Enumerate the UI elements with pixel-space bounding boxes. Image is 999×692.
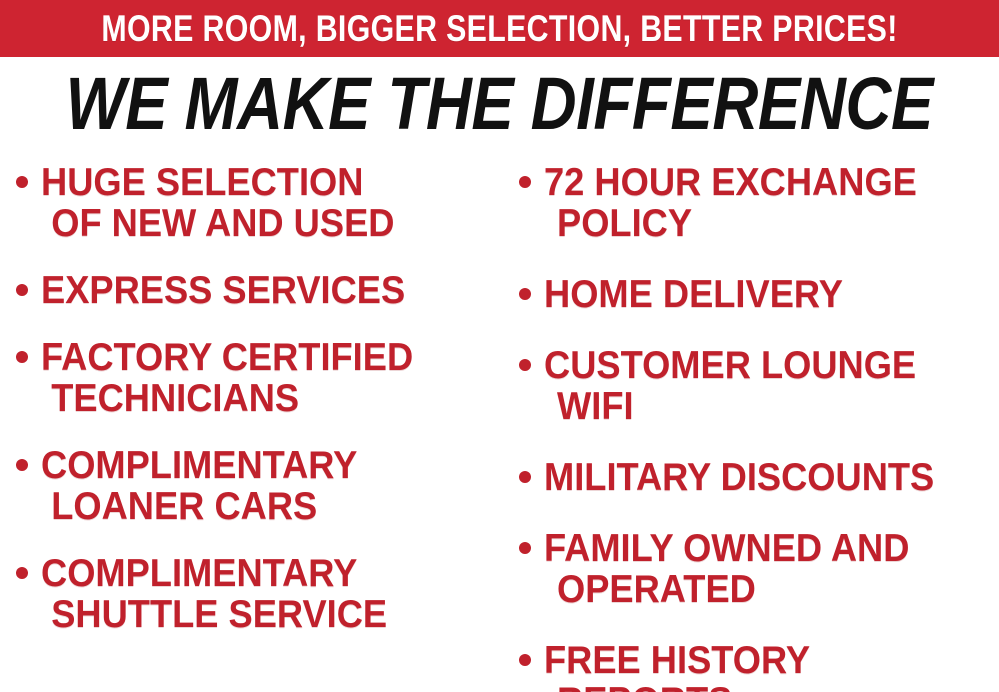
- features-columns: HUGE SELECTION OF NEW AND USED EXPRESS S…: [0, 150, 999, 692]
- bullet-dot-icon: [519, 288, 531, 300]
- bullet-dot-icon: [16, 351, 28, 363]
- headline-container: WE MAKE THE DIFFERENCE: [0, 60, 999, 148]
- list-item-label: COMPLIMENTARY LOANER CARS: [41, 445, 357, 527]
- list-item-line2: TECHNICIANS: [41, 378, 413, 419]
- list-item-label: CUSTOMER LOUNGE WIFI: [544, 345, 916, 427]
- list-item-label: MILITARY DISCOUNTS: [544, 457, 934, 498]
- list-item-label: FREE HISTORY REPORTS: [544, 640, 810, 692]
- list-item-line2: LOANER CARS: [41, 486, 357, 527]
- bullet-dot-icon: [519, 654, 531, 666]
- list-item-line1: HUGE SELECTION: [41, 161, 363, 204]
- list-item-label: HUGE SELECTION OF NEW AND USED: [41, 162, 394, 244]
- list-item-line1: FAMILY OWNED AND: [544, 527, 909, 570]
- list-item-label: FAMILY OWNED AND OPERATED: [544, 528, 909, 610]
- list-item: FREE HISTORY REPORTS: [519, 640, 999, 692]
- bullet-dot-icon: [519, 471, 531, 483]
- features-column-right: 72 HOUR EXCHANGE POLICY HOME DELIVERY CU…: [505, 150, 999, 692]
- list-item: CUSTOMER LOUNGE WIFI: [519, 345, 999, 427]
- list-item-label: HOME DELIVERY: [544, 274, 843, 315]
- list-item-line2: SHUTTLE SERVICE: [41, 594, 387, 635]
- list-item-label: 72 HOUR EXCHANGE POLICY: [544, 162, 917, 244]
- list-item-line2: OPERATED: [544, 569, 909, 610]
- promo-banner: MORE ROOM, BIGGER SELECTION, BETTER PRIC…: [0, 0, 999, 57]
- list-item-line2: WIFI: [544, 386, 916, 427]
- list-item: COMPLIMENTARY LOANER CARS: [16, 445, 505, 527]
- list-item: HOME DELIVERY: [519, 274, 999, 315]
- bullet-dot-icon: [16, 459, 28, 471]
- list-item-label: FACTORY CERTIFIED TECHNICIANS: [41, 337, 413, 419]
- list-item: FAMILY OWNED AND OPERATED: [519, 528, 999, 610]
- bullet-dot-icon: [519, 542, 531, 554]
- bullet-dot-icon: [519, 176, 531, 188]
- promo-banner-text: MORE ROOM, BIGGER SELECTION, BETTER PRIC…: [101, 10, 897, 47]
- page-title: WE MAKE THE DIFFERENCE: [66, 67, 933, 141]
- list-item-line1: COMPLIMENTARY: [41, 444, 357, 487]
- bullet-dot-icon: [16, 176, 28, 188]
- bullet-dot-icon: [16, 567, 28, 579]
- features-column-left: HUGE SELECTION OF NEW AND USED EXPRESS S…: [0, 150, 505, 692]
- list-item: EXPRESS SERVICES: [16, 270, 505, 311]
- list-item-line2: POLICY: [544, 203, 917, 244]
- bullet-dot-icon: [519, 359, 531, 371]
- list-item-line1: EXPRESS SERVICES: [41, 269, 405, 312]
- list-item-line1: FREE HISTORY: [544, 639, 810, 682]
- list-item-line1: MILITARY DISCOUNTS: [544, 456, 934, 499]
- list-item-line1: HOME DELIVERY: [544, 273, 843, 316]
- list-item: HUGE SELECTION OF NEW AND USED: [16, 162, 505, 244]
- list-item: COMPLIMENTARY SHUTTLE SERVICE: [16, 553, 505, 635]
- list-item-line1: COMPLIMENTARY: [41, 552, 357, 595]
- bullet-dot-icon: [16, 284, 28, 296]
- list-item-line1: 72 HOUR EXCHANGE: [544, 161, 917, 204]
- list-item-label: COMPLIMENTARY SHUTTLE SERVICE: [41, 553, 387, 635]
- list-item: 72 HOUR EXCHANGE POLICY: [519, 162, 999, 244]
- list-item: MILITARY DISCOUNTS: [519, 457, 999, 498]
- list-item-line2: REPORTS: [544, 681, 810, 692]
- list-item-line2: OF NEW AND USED: [41, 203, 394, 244]
- list-item-line1: FACTORY CERTIFIED: [41, 336, 413, 379]
- list-item-label: EXPRESS SERVICES: [41, 270, 405, 311]
- list-item-line1: CUSTOMER LOUNGE: [544, 344, 916, 387]
- list-item: FACTORY CERTIFIED TECHNICIANS: [16, 337, 505, 419]
- advertisement-banner: MORE ROOM, BIGGER SELECTION, BETTER PRIC…: [0, 0, 999, 692]
